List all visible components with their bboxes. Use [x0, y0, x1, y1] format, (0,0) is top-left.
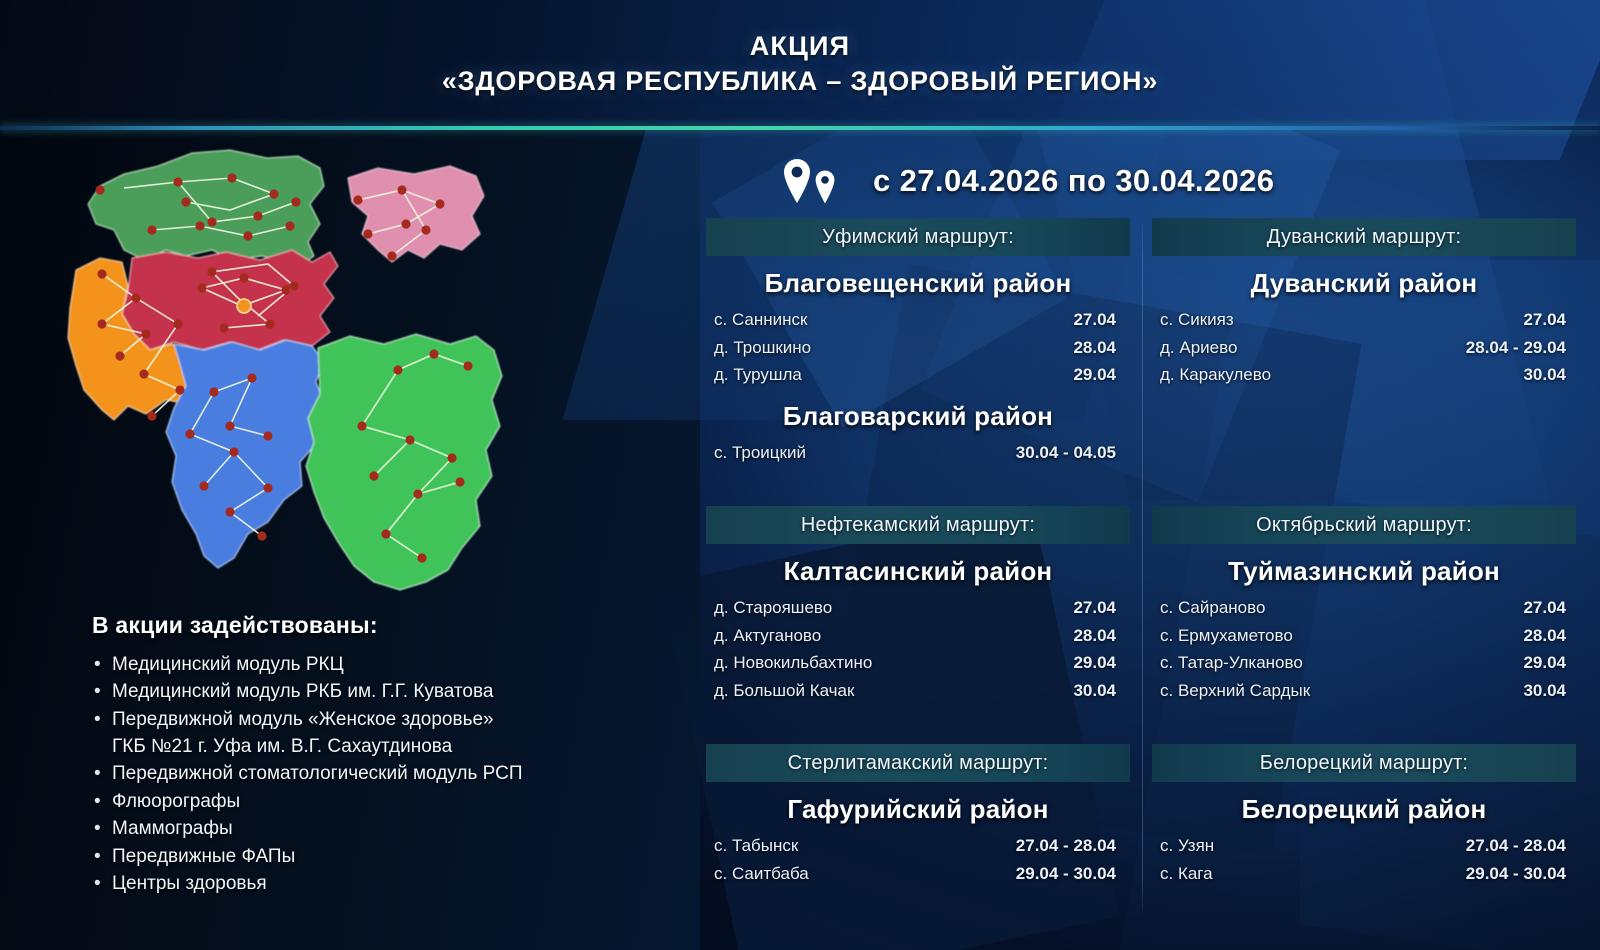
- bullet-icon: •: [94, 788, 101, 815]
- stop-date: 27.04 - 28.04: [1004, 832, 1124, 860]
- stop-row: с. Табынск 27.04 - 28.04: [706, 832, 1130, 860]
- stop-row: д. Актуганово 28.04: [706, 622, 1130, 650]
- stop-row: с. Саитбаба 29.04 - 30.04: [706, 860, 1130, 888]
- stop-row: д. Новокильбахтино 29.04: [706, 649, 1130, 677]
- stop-name: д. Новокильбахтино: [710, 649, 872, 677]
- stop-date: 29.04: [1450, 649, 1570, 677]
- district-name: Благоварский район: [706, 401, 1130, 432]
- stop-row: д. Ариево 28.04 - 29.04: [1152, 334, 1576, 362]
- stop-date: 27.04: [1004, 594, 1124, 622]
- stop-date: 28.04 - 29.04: [1450, 334, 1570, 362]
- column-divider: [1142, 218, 1143, 918]
- participant-label: Передвижные ФАПы: [112, 846, 295, 867]
- route-header-bar: Дуванский маршрут:: [1152, 218, 1576, 256]
- route-name: Дуванский маршрут:: [1267, 226, 1461, 249]
- stop-name: д. Ариево: [1156, 334, 1237, 362]
- stop-row: с. Сикияз 27.04: [1152, 306, 1576, 334]
- stop-date: 29.04: [1004, 649, 1124, 677]
- list-item: • Передвижной стоматологический модуль Р…: [92, 760, 702, 787]
- stop-name: с. Верхний Сардык: [1156, 677, 1310, 705]
- stop-row: с. Узян 27.04 - 28.04: [1152, 832, 1576, 860]
- stop-row: с. Троицкий 30.04 - 04.05: [706, 439, 1130, 467]
- route-block-neftekamsky: Нефтекамский маршрут: Калтасинский район…: [706, 506, 1130, 704]
- stop-name: д. Большой Качак: [710, 677, 854, 705]
- list-item: • Передвижные ФАПы: [92, 843, 702, 870]
- list-item: • Медицинский модуль РКБ им. Г.Г. Кувато…: [92, 678, 702, 705]
- stops-list: с. Саннинск 27.04 д. Трошкино 28.04 д. Т…: [706, 306, 1130, 389]
- bullet-icon: •: [94, 843, 101, 870]
- banner-text-group: АКЦИЯ «ЗДОРОВАЯ РЕСПУБЛИКА – ЗДОРОВЫЙ РЕ…: [0, 0, 1600, 128]
- stop-name: с. Табынск: [710, 832, 798, 860]
- stop-row: с. Сайраново 27.04: [1152, 594, 1576, 622]
- route-block-duvansky: Дуванский маршрут: Дуванский район с. Си…: [1152, 218, 1576, 389]
- stop-row: с. Верхний Сардык 30.04: [1152, 677, 1576, 705]
- map-zone-beloretsky: [306, 334, 502, 590]
- stop-date: 29.04 - 30.04: [1450, 860, 1570, 888]
- stop-date: 28.04: [1450, 622, 1570, 650]
- list-item: • Передвижной модуль «Женское здоровье» …: [92, 706, 702, 761]
- route-block-beloretsky: Белорецкий маршрут: Белорецкий район с. …: [1152, 744, 1576, 887]
- route-name: Нефтекамский маршрут:: [801, 514, 1035, 537]
- participant-label: Флюорографы: [112, 791, 240, 812]
- stop-row: с. Саннинск 27.04: [706, 306, 1130, 334]
- stop-date: 30.04: [1450, 677, 1570, 705]
- stops-list: с. Сайраново 27.04 с. Ермухаметово 28.04…: [1152, 594, 1576, 704]
- stop-date: 30.04: [1004, 677, 1124, 705]
- stops-list: с. Узян 27.04 - 28.04 с. Кага 29.04 - 30…: [1152, 832, 1576, 887]
- stop-date: 27.04: [1004, 306, 1124, 334]
- district-name: Туймазинский район: [1152, 556, 1576, 587]
- list-item: • Флюорографы: [92, 788, 702, 815]
- stop-row: д. Турушла 29.04: [706, 361, 1130, 389]
- stops-list: д. Старояшево 27.04 д. Актуганово 28.04 …: [706, 594, 1130, 704]
- stop-row: с. Татар-Улканово 29.04: [1152, 649, 1576, 677]
- participants-list: • Медицинский модуль РКЦ • Медицинский м…: [92, 651, 702, 897]
- routes-grid: Уфимский маршрут: Благовещенский район с…: [706, 218, 1556, 918]
- stop-date: 27.04: [1450, 594, 1570, 622]
- stop-name: д. Старояшево: [710, 594, 832, 622]
- stop-name: с. Саннинск: [710, 306, 807, 334]
- district-name: Гафурийский район: [706, 794, 1130, 825]
- banner-divider-line: [0, 126, 1600, 130]
- stop-name: д. Каракулево: [1156, 361, 1271, 389]
- participant-label: Медицинский модуль РКЦ: [112, 654, 344, 675]
- district-name: Дуванский район: [1152, 268, 1576, 299]
- stop-date: 28.04: [1004, 334, 1124, 362]
- map-zone-neftekamsky: [88, 150, 324, 266]
- route-name: Белорецкий маршрут:: [1260, 752, 1468, 775]
- stop-date: 28.04: [1004, 622, 1124, 650]
- stop-name: с. Троицкий: [710, 439, 806, 467]
- stop-name: с. Сикияз: [1156, 306, 1234, 334]
- route-block-ufimsky: Уфимский маршрут: Благовещенский район с…: [706, 218, 1130, 466]
- stop-date: 27.04: [1450, 306, 1570, 334]
- stops-list: с. Сикияз 27.04 д. Ариево 28.04 - 29.04 …: [1152, 306, 1576, 389]
- route-header-bar: Белорецкий маршрут:: [1152, 744, 1576, 782]
- route-name: Стерлитамакский маршрут:: [788, 752, 1049, 775]
- map-svg: [62, 138, 542, 618]
- district-name: Благовещенский район: [706, 268, 1130, 299]
- stop-date: 29.04: [1004, 361, 1124, 389]
- stop-name: с. Саитбаба: [710, 860, 809, 888]
- stop-row: д. Большой Качак 30.04: [706, 677, 1130, 705]
- stop-row: д. Каракулево 30.04: [1152, 361, 1576, 389]
- campaign-date-row: с 27.04.2026 по 30.04.2026: [780, 152, 1540, 210]
- map-zone-sterlitamaksky: [166, 340, 324, 568]
- stop-name: с. Ермухаметово: [1156, 622, 1293, 650]
- campaign-date-range: с 27.04.2026 по 30.04.2026: [873, 163, 1274, 199]
- bullet-icon: •: [94, 678, 101, 705]
- district-name: Белорецкий район: [1152, 794, 1576, 825]
- participant-label: Центры здоровья: [112, 873, 267, 894]
- map-capital-marker: [237, 299, 251, 313]
- participant-label-cont: ГКБ №21 г. Уфа им. В.Г. Сахаутдинова: [112, 733, 702, 760]
- stop-name: с. Кага: [1156, 860, 1213, 888]
- list-item: • Центры здоровья: [92, 870, 702, 897]
- stop-date: 30.04: [1450, 361, 1570, 389]
- list-item: • Медицинский модуль РКЦ: [92, 651, 702, 678]
- participant-label: Маммографы: [112, 818, 233, 839]
- bullet-icon: •: [94, 870, 101, 897]
- route-name: Уфимский маршрут:: [822, 226, 1014, 249]
- route-header-bar: Уфимский маршрут:: [706, 218, 1130, 256]
- bullet-icon: •: [94, 760, 101, 787]
- bullet-icon: •: [94, 815, 101, 842]
- route-header-bar: Октябрьский маршрут:: [1152, 506, 1576, 544]
- stop-name: с. Сайраново: [1156, 594, 1265, 622]
- route-name: Октябрьский маршрут:: [1256, 514, 1472, 537]
- stop-name: с. Татар-Улканово: [1156, 649, 1303, 677]
- campaign-title-line2: «ЗДОРОВАЯ РЕСПУБЛИКА – ЗДОРОВЫЙ РЕГИОН»: [442, 66, 1158, 97]
- participant-label: Медицинский модуль РКБ им. Г.Г. Куватова: [112, 681, 493, 702]
- participant-label: Передвижной стоматологический модуль РСП: [112, 763, 522, 784]
- stop-date: 27.04 - 28.04: [1450, 832, 1570, 860]
- stops-list: с. Троицкий 30.04 - 04.05: [706, 439, 1130, 467]
- stop-name: д. Турушла: [710, 361, 802, 389]
- stop-name: д. Трошкино: [710, 334, 811, 362]
- bullet-icon: •: [94, 651, 101, 678]
- participants-block: В акции задействованы: • Медицинский мод…: [92, 612, 702, 897]
- route-header-bar: Стерлитамакский маршрут:: [706, 744, 1130, 782]
- route-block-oktyabrsky: Октябрьский маршрут: Туймазинский район …: [1152, 506, 1576, 704]
- stop-name: с. Узян: [1156, 832, 1214, 860]
- stop-row: с. Ермухаметово 28.04: [1152, 622, 1576, 650]
- participant-label: Передвижной модуль «Женское здоровье»: [112, 709, 494, 730]
- route-header-bar: Нефтекамский маршрут:: [706, 506, 1130, 544]
- title-banner: АКЦИЯ «ЗДОРОВАЯ РЕСПУБЛИКА – ЗДОРОВЫЙ РЕ…: [0, 0, 1600, 128]
- stops-list: с. Табынск 27.04 - 28.04 с. Саитбаба 29.…: [706, 832, 1130, 887]
- republic-route-map: [62, 138, 542, 618]
- bullet-icon: •: [94, 706, 101, 733]
- participants-title: В акции задействованы:: [92, 612, 702, 639]
- stop-date: 30.04 - 04.05: [1004, 439, 1124, 467]
- stop-date: 29.04 - 30.04: [1004, 860, 1124, 888]
- campaign-title-line1: АКЦИЯ: [750, 31, 851, 62]
- stop-row: с. Кага 29.04 - 30.04: [1152, 860, 1576, 888]
- stop-name: д. Актуганово: [710, 622, 821, 650]
- map-pin-double-icon: [780, 157, 837, 205]
- district-name: Калтасинский район: [706, 556, 1130, 587]
- list-item: • Маммографы: [92, 815, 702, 842]
- route-block-sterlitamaksky: Стерлитамакский маршрут: Гафурийский рай…: [706, 744, 1130, 887]
- stop-row: д. Старояшево 27.04: [706, 594, 1130, 622]
- stop-row: д. Трошкино 28.04: [706, 334, 1130, 362]
